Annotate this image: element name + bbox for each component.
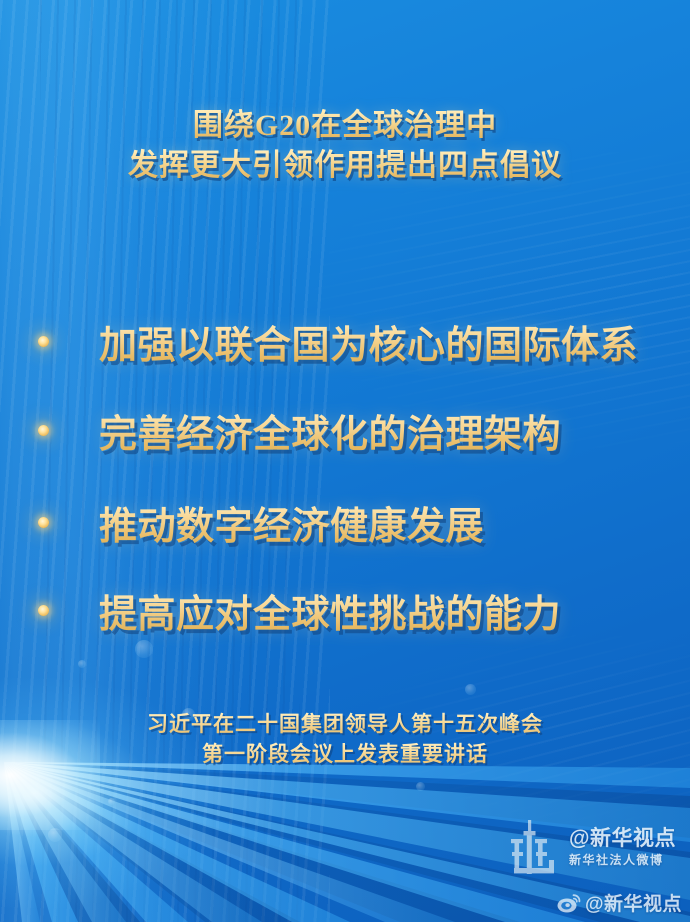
- weibo-watermark: @新华视点: [556, 889, 682, 916]
- bokeh-dot: [48, 828, 62, 842]
- proposal-text-4: 提高应对全球性挑战的能力: [99, 583, 561, 638]
- proposal-text-2: 完善经济全球化的治理架构: [99, 403, 561, 458]
- bokeh-dot: [416, 782, 425, 791]
- proposal-list: 加强以联合国为核心的国际体系 完善经济全球化的治理架构 推动数字经济健康发展 提…: [0, 300, 690, 654]
- watermark-texts: @新华视点 新华社法人微博: [569, 827, 676, 867]
- bokeh-dot: [465, 684, 476, 695]
- caption-line-2: 第一阶段会议上发表重要讲话: [0, 740, 690, 770]
- list-item: 提高应对全球性挑战的能力: [0, 566, 690, 654]
- headline-line-1: 围绕G20在全球治理中: [0, 106, 690, 146]
- xinhua-watermark: @新华视点 新华社法人微博: [505, 818, 676, 876]
- weibo-handle: @新华视点: [585, 889, 682, 916]
- caption-line-1: 习近平在二十国集团领导人第十五次峰会: [0, 710, 690, 740]
- bullet-dot-icon: [38, 517, 49, 528]
- list-item: 完善经济全球化的治理架构: [0, 382, 690, 478]
- bokeh-dot: [78, 660, 86, 668]
- page-title: 围绕G20在全球治理中 发挥更大引领作用提出四点倡议: [0, 106, 690, 186]
- poster-canvas: 围绕G20在全球治理中 发挥更大引领作用提出四点倡议 加强以联合国为核心的国际体…: [0, 0, 690, 922]
- list-item: 加强以联合国为核心的国际体系: [0, 300, 690, 382]
- weibo-icon: [556, 892, 582, 914]
- headline-line-2: 发挥更大引领作用提出四点倡议: [0, 146, 690, 186]
- bullet-dot-icon: [38, 605, 49, 616]
- bullet-dot-icon: [38, 336, 49, 347]
- watermark-handle: @新华视点: [569, 827, 676, 851]
- bullet-dot-icon: [38, 425, 49, 436]
- list-item: 推动数字经济健康发展: [0, 478, 690, 566]
- proposal-text-1: 加强以联合国为核心的国际体系: [99, 314, 638, 369]
- bokeh-dot: [108, 798, 115, 805]
- watermark-subtitle: 新华社法人微博: [569, 853, 676, 867]
- proposal-text-3: 推动数字经济健康发展: [99, 495, 484, 550]
- caption-block: 习近平在二十国集团领导人第十五次峰会 第一阶段会议上发表重要讲话: [0, 710, 690, 770]
- xinhua-logo-icon: [505, 818, 561, 876]
